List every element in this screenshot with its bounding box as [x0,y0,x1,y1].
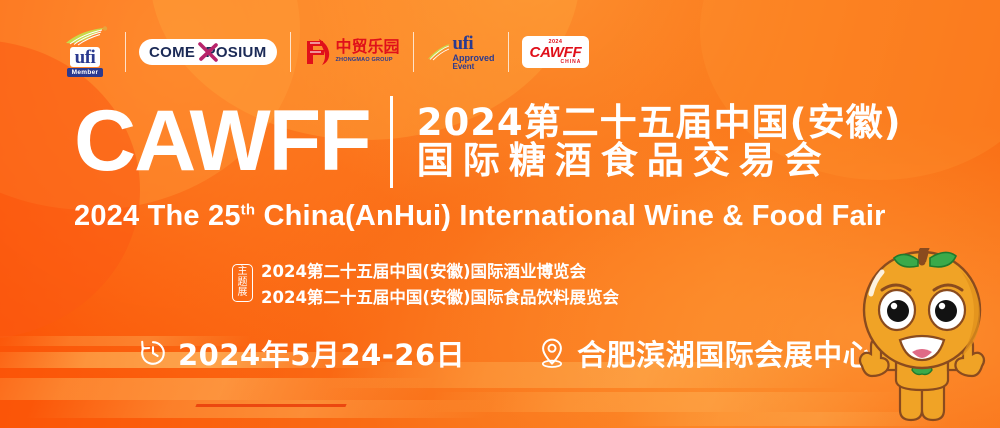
english-subtitle-suffix: China(AnHui) International Wine & Food F… [255,200,885,232]
theme-badge-char-3: 展 [238,288,248,299]
ufi-event-label: Event [453,63,495,71]
theme-line-list: 2024第二十五届中国(安徽)国际酒业博览会 2024第二十五届中国(安徽)国际… [261,258,619,308]
english-subtitle: 2024 The 25th China(AnHui) International… [74,200,886,233]
chinese-title-line2: 国际糖酒食品交易会 [417,142,902,180]
page-title-acronym: CAWFF [74,102,370,181]
ufi-member-label: Member [67,68,104,77]
event-date-group: 2024年5月24-26日 [138,332,465,374]
partner-logo-bar: ufi Member COME X POSIUM 中贸乐 [58,26,589,78]
logo-divider [413,32,414,72]
location-pin-icon [537,337,567,369]
event-location: 合肥滨湖国际会展中心 [577,332,872,374]
title-divider [390,96,393,188]
zhongmao-emblem-icon [304,37,332,67]
logo-cawff-badge: 2024 CAWFF CHINA [522,36,590,69]
ufi-wordmark: ufi [75,47,96,68]
logo-divider [508,32,509,72]
event-banner: ufi Member COME X POSIUM 中贸乐 [0,0,1000,428]
theme-exhibitions: 主 题 展 2024第二十五届中国(安徽)国际酒业博览会 2024第二十五届中国… [232,258,619,308]
theme-badge: 主 题 展 [232,264,253,302]
background-streak [26,400,494,418]
orange-fruit-mascot [838,248,1000,428]
theme-badge-char-1: 主 [238,267,248,278]
ufi-wordmark-box: ufi [70,47,101,67]
comexposium-x-icon [198,42,218,62]
ufi-wing-icon [64,26,110,46]
logo-zhongmao-group: 中贸乐园 ZHONGMAO GROUP [304,37,400,67]
background-streak [0,378,435,400]
chinese-title: 2024第二十五届中国(安徽) 国际糖酒食品交易会 [417,104,902,179]
zhongmao-chinese-name: 中贸乐园 [336,40,400,56]
chinese-title-line1: 2024第二十五届中国(安徽) [417,104,902,142]
ufi-approved-wordmark: ufi [453,34,495,53]
background-blob [0,40,140,340]
logo-ufi-member: ufi Member [58,27,112,77]
zhongmao-text: 中贸乐园 ZHONGMAO GROUP [336,40,400,64]
logo-divider [125,32,126,72]
logo-divider [290,32,291,72]
cawff-badge-sub: CHINA [561,60,582,65]
logo-comexposium: COME X POSIUM [139,39,277,65]
english-subtitle-prefix: 2024 The 25 [74,200,241,232]
background-streak [426,392,905,412]
clock-icon [138,338,168,368]
main-title: CAWFF 2024第二十五届中国(安徽) 国际糖酒食品交易会 [74,96,902,188]
event-location-group: 合肥滨湖国际会展中心 [537,332,872,374]
cawff-badge-wordmark: CAWFF [530,45,582,60]
theme-line-2: 2024第二十五届中国(安徽)国际食品饮料展览会 [261,284,619,308]
comexposium-wordmark-left: COME [149,44,195,61]
event-info-bar: 2024年5月24-26日 合肥滨湖国际会展中心 [138,332,872,374]
english-subtitle-ordinal: th [241,201,256,218]
event-date: 2024年5月24-26日 [178,332,465,374]
theme-line-1: 2024第二十五届中国(安徽)国际酒业博览会 [261,258,619,282]
ufi-approved-wing-icon [427,40,451,64]
logo-ufi-approved-event: ufi Approved Event [427,34,495,71]
ufi-approved-text: ufi Approved Event [453,34,495,71]
zhongmao-english-name: ZHONGMAO GROUP [336,58,400,64]
background-accent-line [195,404,346,407]
